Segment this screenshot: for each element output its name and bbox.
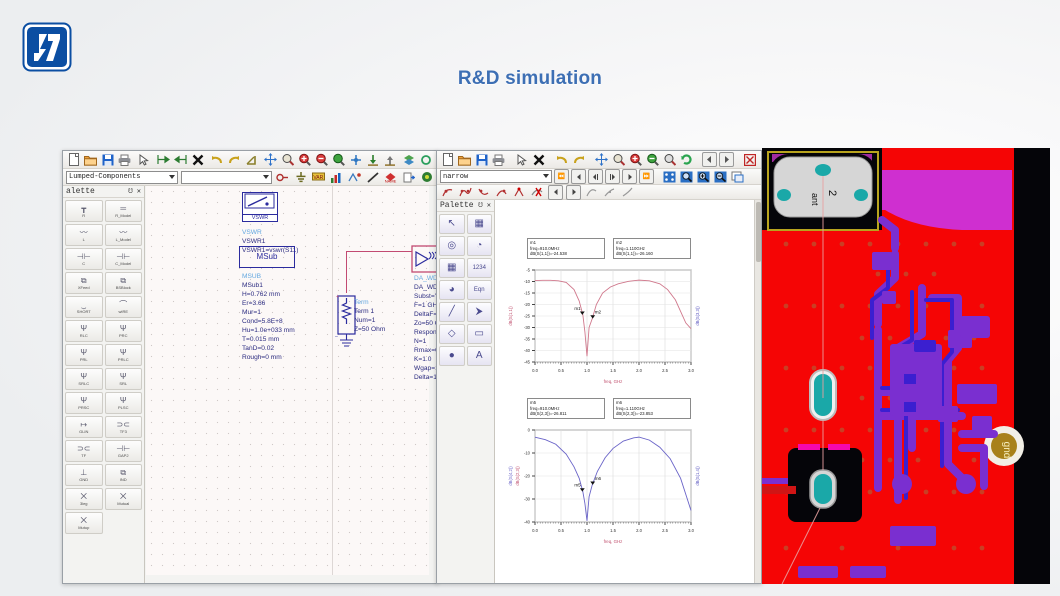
scrollbar-thumb[interactable]: [756, 202, 761, 262]
zoom-in-window-icon[interactable]: [696, 169, 711, 184]
display-palette-title: Palette: [440, 201, 474, 210]
component-glyph-icon: Ψ: [80, 325, 87, 333]
svg-text:-20: -20: [524, 474, 531, 479]
delete-x-icon[interactable]: [190, 152, 205, 167]
circle-tool[interactable]: ●: [439, 346, 465, 366]
component-glyph-icon: ⊃⊂: [77, 445, 90, 453]
coupler-line-1: Subst="MSub1": [414, 292, 438, 301]
line-tool[interactable]: ╱: [439, 302, 465, 322]
wire-vertical: [346, 251, 347, 293]
tool-glyph-icon: 1234: [473, 264, 486, 272]
trace-dropdown-value: narrow: [443, 173, 468, 181]
marker-value: dB(S(1,1))=-26.160: [616, 251, 688, 257]
palette-item-label: BSBlock: [116, 285, 131, 290]
return-loss-plot[interactable]: 0.00.51.01.52.02.53.0-5-10-15-20-25-30-3…: [503, 236, 703, 386]
snapshot-icon[interactable]: [730, 169, 745, 184]
pcb-artwork: ant 2 gnd: [762, 148, 1050, 584]
svg-text:0.0: 0.0: [532, 368, 538, 373]
delete-x-icon[interactable]: [531, 152, 546, 167]
antenna-label-number: 2: [826, 190, 838, 196]
component-glyph-icon: Ψ: [80, 373, 87, 381]
palette-grid[interactable]: ┳R═R_Model〰L〰L_Model⊣⊢C⊣⊢C_Model⧉XFeed⧉B…: [63, 198, 144, 536]
svg-text:-45: -45: [524, 360, 531, 365]
coupler-line-7: Rmax=0.05: [414, 346, 438, 355]
library-dropdown-value: Lumped-Components: [69, 173, 140, 181]
smith-chart-tool[interactable]: ◔: [467, 236, 493, 256]
coupler-line-3: DeltaF=0.2 GHz: [414, 310, 438, 319]
name-net-icon[interactable]: NAME: [383, 170, 398, 185]
data-display-window[interactable]: narrow ⏪ ⏩: [436, 150, 762, 584]
zoom-point-icon[interactable]: [348, 152, 363, 167]
new-file-icon[interactable]: [440, 152, 455, 167]
zoom-out-window-icon[interactable]: [713, 169, 728, 184]
svg-text:2.5: 2.5: [662, 528, 668, 533]
close-icon[interactable]: ✕: [137, 188, 141, 196]
coupler-line-9: Wgap=1.25 mm: [414, 364, 438, 373]
svg-text:3.0: 3.0: [688, 528, 694, 533]
vertical-scrollbar[interactable]: [754, 200, 761, 583]
sync-icon[interactable]: [419, 152, 434, 167]
component-dropdown[interactable]: [181, 171, 272, 184]
coupler-line-5: ResponseType=Un: [414, 328, 438, 337]
component-glyph-icon: Ψ: [120, 397, 127, 405]
marker-left-icon[interactable]: [476, 185, 491, 200]
svg-text:1.0: 1.0: [584, 368, 590, 373]
tool-glyph-icon: ◔: [476, 242, 482, 250]
component-glyph-icon: ⧉: [120, 469, 126, 477]
msub-line-2: Er=3.66: [242, 299, 295, 308]
palette-item-label: wIRE: [118, 309, 128, 314]
palette-item-plsc[interactable]: ΨPLSC: [105, 392, 143, 414]
palette-item-r[interactable]: ┳R: [65, 200, 103, 222]
tool-glyph-icon: A: [476, 352, 483, 360]
step-back-icon[interactable]: [588, 169, 603, 184]
palette-item-label: C_Model: [115, 261, 131, 266]
term-line-1: Num=1: [354, 316, 385, 325]
palette-item-label: TF3: [120, 429, 127, 434]
svg-text:-10: -10: [524, 451, 531, 456]
display-toolbar-row2[interactable]: narrow ⏪ ⏩: [437, 169, 761, 185]
save-icon[interactable]: [474, 152, 489, 167]
component-glyph-icon: 〰: [119, 229, 127, 237]
palette-item-gap2[interactable]: ⊣⊢GAP2: [105, 440, 143, 462]
palette-item-label: R: [82, 213, 85, 218]
vswr-line-0: VSWR1: [242, 237, 298, 246]
palette-item-label: PRC: [119, 333, 127, 338]
component-glyph-icon: Ψ: [80, 397, 87, 405]
vswr-symbol-label: VSWR: [243, 214, 277, 221]
push-down-icon[interactable]: [365, 152, 380, 167]
port-left-icon[interactable]: [156, 152, 171, 167]
palette-item-l[interactable]: 〰L: [65, 224, 103, 246]
component-glyph-icon: ⊃⊂: [117, 421, 130, 429]
coupler-line-2: F=1 GHz: [414, 301, 438, 310]
coupler-line-8: K=1.0: [414, 355, 438, 364]
chevron-down-icon: [543, 174, 549, 178]
palette-item-label: XFeed: [78, 285, 90, 290]
marker-delete-icon[interactable]: [530, 185, 545, 200]
msub-line-7: TanD=0.02: [242, 344, 295, 353]
schematic-toolbar[interactable]: [63, 151, 437, 169]
next-icon[interactable]: [622, 169, 637, 184]
hierarchy-icon[interactable]: [402, 152, 417, 167]
trace3-icon[interactable]: [620, 185, 635, 200]
list-plot-tool[interactable]: ▦: [439, 258, 465, 278]
palette-item-short[interactable]: ⏟SHORT: [65, 296, 103, 318]
insert-pin-icon[interactable]: [401, 170, 416, 185]
trace2-icon[interactable]: [602, 185, 617, 200]
chevron-down-icon: [263, 175, 269, 179]
open-folder-icon[interactable]: [83, 152, 98, 167]
component-glyph-icon: ⧉: [81, 277, 87, 285]
svg-text:2.0: 2.0: [636, 368, 642, 373]
palette-item-label: PRL: [80, 357, 88, 362]
display-toolbar[interactable]: [437, 151, 761, 169]
svg-text:1.5: 1.5: [610, 528, 616, 533]
arrow-tool[interactable]: ⮞: [467, 302, 493, 322]
refresh-icon[interactable]: [679, 152, 694, 167]
palette-item-gnd[interactable]: ⊥GND: [65, 464, 103, 486]
y-axis-label-right: dB(S(3,3)): [695, 306, 700, 326]
tool-glyph-icon: ◕: [449, 286, 455, 294]
y-axis-label: dB(S(4,2)): [508, 466, 513, 486]
palette-item-mutual[interactable]: ⨉Mutual: [105, 488, 143, 510]
move-icon[interactable]: [263, 152, 278, 167]
msub-symbol[interactable]: MSub: [239, 246, 295, 268]
step-fwd-icon[interactable]: [605, 169, 620, 184]
antenna-label-ant: ant: [810, 193, 820, 206]
svg-text:+: +: [336, 294, 339, 300]
marker-m2-label: m2: [595, 310, 602, 315]
palette-item-prsc[interactable]: ΨPRSC: [65, 392, 103, 414]
var-icon[interactable]: VAR: [311, 170, 326, 185]
msub-line-6: T=0.015 mm: [242, 335, 295, 344]
text-tool[interactable]: A: [467, 346, 493, 366]
pcb-layout[interactable]: ant 2 gnd: [762, 148, 1050, 584]
table-tool[interactable]: 1234: [467, 258, 493, 278]
zoom-fit-icon[interactable]: [331, 152, 346, 167]
palette-item-srl[interactable]: ΨSRL: [105, 368, 143, 390]
rotate-icon[interactable]: [244, 152, 259, 167]
marker-multi-icon[interactable]: [458, 185, 473, 200]
component-glyph-icon: ⊣⊢: [116, 253, 130, 261]
palette-item-label: GAP2: [118, 453, 129, 458]
svg-text:_: _: [335, 332, 338, 338]
coupling-plot[interactable]: 0.00.51.01.52.02.53.00-10-20-30-40freq, …: [503, 396, 703, 546]
palette-item-label: PRSC: [78, 405, 89, 410]
coupler-annotation: DA_WDCoupler1_ DA_WDCoupler1 Subst="MSub…: [414, 274, 438, 382]
vswr-symbol[interactable]: VSWR: [242, 192, 278, 222]
palette-item-label: 3leg: [80, 501, 88, 506]
marker-prev-icon[interactable]: [548, 185, 563, 200]
svg-text:NAME: NAME: [385, 178, 397, 182]
vswr-header: VSWR: [242, 228, 298, 237]
page-title: R&D simulation: [0, 68, 1060, 90]
marker-value: dB(S(1,1))=-24.538: [530, 251, 602, 257]
palette-item-label: Mutual: [117, 501, 129, 506]
tool-glyph-icon: ▭: [475, 330, 484, 338]
trace-icon[interactable]: [584, 185, 599, 200]
palette-item-label: SRL: [119, 381, 127, 386]
first-icon[interactable]: ⏪: [554, 169, 569, 184]
component-glyph-icon: ⌒: [119, 301, 127, 309]
palette-item-wire[interactable]: ⌒wIRE: [105, 296, 143, 318]
move-icon[interactable]: [594, 152, 609, 167]
palette-item-mutup[interactable]: ⨉Mutup: [65, 512, 103, 534]
term-line-2: Z=50 Ohm: [354, 325, 385, 334]
pointer-icon[interactable]: [514, 152, 529, 167]
prev-page-icon[interactable]: [702, 152, 717, 167]
palette-item-label: C: [82, 261, 85, 266]
component-glyph-icon: ⊣⊢: [116, 445, 130, 453]
palette-item-srlc[interactable]: ΨSRLC: [65, 368, 103, 390]
component-glyph-icon: ⨉: [120, 493, 126, 501]
palette-item-xfeed[interactable]: ⧉XFeed: [65, 272, 103, 294]
msub-line-8: Rough=0 mm: [242, 353, 295, 362]
component-glyph-icon: ↦: [80, 421, 87, 429]
palette-item-label: SHORT: [77, 309, 91, 314]
coupler-header: DA_WDCoupler1_: [414, 274, 438, 283]
zoom-in-icon[interactable]: [297, 152, 312, 167]
zoom-in-icon[interactable]: [628, 152, 643, 167]
palette-item-3leg[interactable]: ⨉3leg: [65, 488, 103, 510]
print-icon[interactable]: [491, 152, 506, 167]
term-header: Term: [354, 298, 385, 307]
save-icon[interactable]: [100, 152, 115, 167]
fit-all-icon[interactable]: [662, 169, 677, 184]
y-axis-label: dB(S(1,1)): [508, 306, 513, 326]
msub-line-0: MSub1: [242, 281, 295, 290]
svg-text:-40: -40: [524, 520, 531, 525]
schematic-toolbar-row2[interactable]: Lumped-Components VAR NAME: [63, 169, 437, 186]
component-glyph-icon: ┳: [81, 205, 86, 213]
tool-glyph-icon: ▦: [447, 264, 456, 272]
palette-item-label: PRLC: [118, 357, 129, 362]
palette-item-ind[interactable]: ⧉IND: [105, 464, 143, 486]
palette-item-prc[interactable]: ΨPRC: [105, 320, 143, 342]
wire-icon[interactable]: [365, 170, 380, 185]
display-template-icon[interactable]: [329, 170, 344, 185]
marker-peak-icon[interactable]: [512, 185, 527, 200]
msub-header: MSUB: [242, 272, 295, 281]
component-glyph-icon: Ψ: [80, 349, 87, 357]
palette-item-label: GLIN: [79, 429, 88, 434]
svg-text:-20: -20: [524, 302, 531, 307]
palette-item-glin[interactable]: ↦GLIN: [65, 416, 103, 438]
msub-line-5: Hu=1.0e+033 mm: [242, 326, 295, 335]
palette-item-label: L: [83, 237, 85, 242]
palette-item-label: L_Model: [116, 237, 131, 242]
msub-annotation: MSUB MSub1 H=0.762 mm Er=3.66 Mur=1 Cond…: [242, 272, 295, 362]
close-window-icon[interactable]: [742, 152, 757, 167]
marker-right-icon[interactable]: [494, 185, 509, 200]
tool-glyph-icon: ◎: [447, 242, 456, 250]
palette-item-prlc[interactable]: ΨPRLC: [105, 344, 143, 366]
svg-text:2.0: 2.0: [636, 528, 642, 533]
svg-text:-15: -15: [524, 291, 531, 296]
msub-line-4: Cond=5.8E+8: [242, 317, 295, 326]
pointer-icon[interactable]: [137, 152, 152, 167]
term-line-0: Term 1: [354, 307, 385, 316]
pin-icon[interactable]: ☋: [478, 202, 482, 210]
component-glyph-icon: Ψ: [120, 349, 127, 357]
schematic-window[interactable]: Lumped-Components VAR NAME alette: [62, 150, 438, 584]
component-glyph-icon: Ψ: [120, 325, 127, 333]
trace-dropdown[interactable]: narrow: [440, 170, 552, 183]
schematic-palette[interactable]: alette ☋ ✕ ┳R═R_Model〰L〰L_Model⊣⊢C⊣⊢C_Mo…: [63, 186, 145, 583]
svg-text:0.5: 0.5: [558, 528, 564, 533]
zoom-point-icon[interactable]: [662, 152, 677, 167]
svg-text:0.5: 0.5: [558, 368, 564, 373]
msub-line-1: H=0.762 mm: [242, 290, 295, 299]
palette-item-rlc[interactable]: ΨRLC: [65, 320, 103, 342]
port-right-icon[interactable]: [173, 152, 188, 167]
palette-item-r_model[interactable]: ═R_Model: [105, 200, 143, 222]
redo-icon[interactable]: [227, 152, 242, 167]
palette-item-label: GND: [79, 477, 88, 482]
marker-value: dB(S(2,3))=-23.853: [616, 411, 688, 417]
ground-icon[interactable]: [293, 170, 308, 185]
palette-item-c[interactable]: ⊣⊢C: [65, 248, 103, 270]
print-icon[interactable]: [117, 152, 132, 167]
tool-glyph-icon: ◇: [448, 330, 456, 338]
zoom-area-icon[interactable]: [280, 152, 295, 167]
marker-readout-m5[interactable]: m5freq=910.0MHzdB(S(2,3))=-26.811: [527, 398, 605, 419]
coupler-line-6: N=1: [414, 337, 438, 346]
equation-tool[interactable]: Eqn: [467, 280, 493, 300]
component-glyph-icon: ⊥: [80, 469, 87, 477]
pin-icon[interactable]: ☋: [128, 188, 132, 196]
tool-glyph-icon: ⮞: [476, 308, 483, 316]
component-glyph-icon: ⏟: [81, 301, 86, 309]
tool-glyph-icon: ▦: [475, 220, 484, 228]
zoom-out-icon[interactable]: [645, 152, 660, 167]
rect-plot-tool[interactable]: ▦: [467, 214, 493, 234]
component-glyph-icon: ═: [120, 205, 126, 213]
x-axis-label: freq, GHz: [604, 539, 623, 544]
marker-m6-label: m6: [595, 476, 602, 481]
palette-item-label: TF: [81, 453, 86, 458]
display-palette-titlebar: Palette ☋ ✕: [437, 200, 494, 212]
svg-text:1.5: 1.5: [610, 368, 616, 373]
msub-line-3: Mur=1: [242, 308, 295, 317]
palette-item-tf[interactable]: ⊃⊂TF: [65, 440, 103, 462]
last-icon[interactable]: ⏩: [639, 169, 654, 184]
display-toolbar-row3[interactable]: [437, 185, 761, 200]
svg-text:-40: -40: [524, 348, 531, 353]
component-glyph-icon: ⨉: [81, 517, 87, 525]
antenna-plot-tool[interactable]: ◕: [439, 280, 465, 300]
svg-text:-30: -30: [524, 497, 531, 502]
component-glyph-icon: ⊣⊢: [77, 253, 91, 261]
palette-item-label: RLC: [80, 333, 88, 338]
palette-item-bsblock[interactable]: ⧉BSBlock: [105, 272, 143, 294]
tool-glyph-icon: Eqn: [474, 286, 485, 294]
tool-glyph-icon: ↖: [448, 220, 456, 228]
component-glyph-icon: 〰: [80, 229, 88, 237]
library-dropdown[interactable]: Lumped-Components: [66, 171, 178, 184]
open-folder-icon[interactable]: [457, 152, 472, 167]
canvas-divider: [332, 186, 333, 575]
display-palette[interactable]: Palette ☋ ✕ ↖▦◎◔▦1234◕Eqn╱⮞◇▭●A: [437, 200, 495, 583]
term-annotation: Term Term 1 Num=1 Z=50 Ohm: [354, 298, 385, 334]
plot-area[interactable]: 0.00.51.01.52.02.53.0-5-10-15-20-25-30-3…: [495, 200, 761, 583]
marker-m5-label: m5: [574, 483, 581, 488]
marker-value: dB(S(2,3))=-26.811: [530, 411, 602, 417]
polygon-tool[interactable]: ◇: [439, 324, 465, 344]
svg-text:3.0: 3.0: [688, 368, 694, 373]
palette-item-l_model[interactable]: 〰L_Model: [105, 224, 143, 246]
palette-item-label: PLSC: [118, 405, 128, 410]
zoom-window-icon[interactable]: [679, 169, 694, 184]
zoom-out-icon[interactable]: [314, 152, 329, 167]
marker-icon[interactable]: [440, 185, 455, 200]
svg-text:-25: -25: [524, 314, 531, 319]
tool-glyph-icon: ●: [449, 352, 455, 360]
schematic-canvas[interactable]: VSWR VSWR VSWR1 VSWR1=vswr(S11) MSub MSU…: [146, 186, 429, 575]
svg-text:VAR: VAR: [313, 175, 323, 181]
x-axis-label: freq, GHz: [604, 379, 623, 384]
new-file-icon[interactable]: [66, 152, 81, 167]
component-glyph-icon: ⨉: [81, 493, 87, 501]
undo-icon[interactable]: [210, 152, 225, 167]
display-palette-grid[interactable]: ↖▦◎◔▦1234◕Eqn╱⮞◇▭●A: [437, 212, 494, 368]
coupler-line-10: Delta=1 mm: [414, 373, 438, 382]
svg-text:-35: -35: [524, 337, 531, 342]
zoom-area-icon[interactable]: [611, 152, 626, 167]
svg-text:1.0: 1.0: [584, 528, 590, 533]
y-axis-label-right: dB(S(1,4)): [695, 466, 700, 486]
svg-text:-10: -10: [524, 279, 531, 284]
component-glyph-icon: Ψ: [120, 373, 127, 381]
pop-up-icon[interactable]: [382, 152, 397, 167]
palette-item-tf3[interactable]: ⊃⊂TF3: [105, 416, 143, 438]
palette-item-label: Mutup: [78, 525, 89, 530]
tune-icon[interactable]: [347, 170, 362, 185]
marker-readout-m6[interactable]: m6freq=1.110GHzdB(S(2,3))=-23.853: [613, 398, 691, 419]
svg-text:0.0: 0.0: [532, 528, 538, 533]
optim-icon[interactable]: [419, 170, 434, 185]
company-logo: [22, 22, 72, 72]
palette-titlebar: alette ☋ ✕: [63, 186, 144, 198]
pointer-tool[interactable]: ↖: [439, 214, 465, 234]
tool-glyph-icon: ╱: [449, 308, 455, 316]
y-axis-label-secondary: dB(S(2,3)): [515, 466, 520, 486]
component-glyph-icon: ⧉: [120, 277, 126, 285]
wire-top: [346, 251, 412, 252]
close-icon[interactable]: ✕: [487, 202, 491, 210]
polar-plot-tool[interactable]: ◎: [439, 236, 465, 256]
palette-item-label: IND: [120, 477, 127, 482]
svg-text:2.5: 2.5: [662, 368, 668, 373]
palette-item-c_model[interactable]: ⊣⊢C_Model: [105, 248, 143, 270]
next-page-icon[interactable]: [719, 152, 734, 167]
palette-item-prl[interactable]: ΨPRL: [65, 344, 103, 366]
marker-readout-m1[interactable]: m1freq=910.0MHzdB(S(1,1))=-24.538: [527, 238, 605, 259]
marker-next-icon[interactable]: [566, 185, 581, 200]
rectangle-tool[interactable]: ▭: [467, 324, 493, 344]
svg-text:-5: -5: [526, 268, 530, 273]
redo-icon[interactable]: [571, 152, 586, 167]
gnd-pad-label: gnd: [1001, 442, 1012, 459]
palette-item-label: SRLC: [78, 381, 89, 386]
undo-icon[interactable]: [554, 152, 569, 167]
prev-icon[interactable]: [571, 169, 586, 184]
component-icon[interactable]: [275, 170, 290, 185]
marker-readout-m2[interactable]: m2freq=1.110GHzdB(S(1,1))=-26.160: [613, 238, 691, 259]
coupler-line-0: DA_WDCoupler1: [414, 283, 438, 292]
svg-text:-30: -30: [524, 325, 531, 330]
